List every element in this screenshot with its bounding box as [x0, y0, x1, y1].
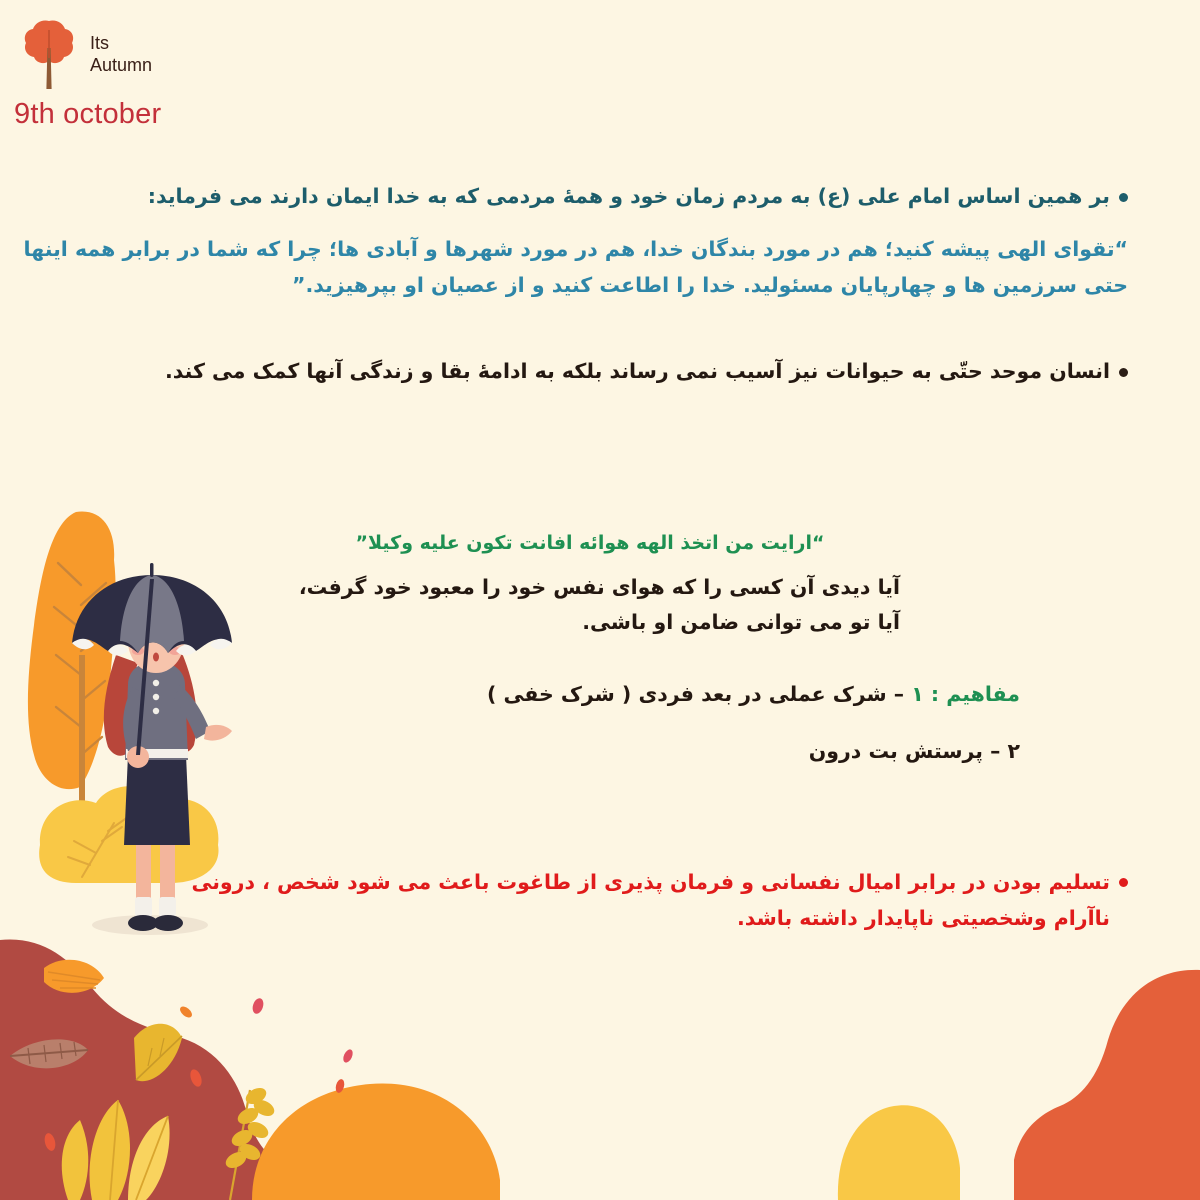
bullet-dot-icon — [1119, 193, 1128, 202]
concepts-label: مفاهیم : ۱ — [911, 682, 1020, 706]
bullet-dot-icon — [1119, 368, 1128, 377]
paragraph-3-text: تسلیم بودن در برابر امیال نفسانی و فرمان… — [138, 865, 1110, 937]
paragraph-2-text: انسان موحد حتّی به حیوانات نیز آسیب نمی … — [165, 355, 1110, 389]
concepts-line-2: ۲ – پرستش بت درون — [290, 735, 1020, 769]
tall-leaf — [134, 1024, 182, 1082]
brand-row: Its Autumn — [22, 18, 152, 90]
concepts-item-1: – شرک عملی در بعد فردی ( شرک خفی ) — [487, 682, 904, 706]
date-label: 9th october — [14, 98, 161, 131]
poster-page: Its Autumn 9th october بر همین اساس امام… — [0, 0, 1200, 1200]
verse-translation: آیا دیدی آن کسی را که هوای نفس خود را مع… — [280, 570, 900, 640]
brand-line-2: Autumn — [90, 54, 152, 77]
leaf-branch — [223, 1085, 277, 1200]
brand-text: Its Autumn — [90, 32, 152, 77]
feather-leaf-icon — [10, 1039, 88, 1068]
paragraph-3-row: تسلیم بودن در برابر امیال نفسانی و فرمان… — [138, 865, 1128, 937]
concepts-line-1: مفاهیم : ۱ – شرک عملی در بعد فردی ( شرک … — [230, 678, 1020, 712]
paragraph-1-row: بر همین اساس امام علی (ع) به مردم زمان خ… — [18, 180, 1128, 214]
paragraph-1-text: بر همین اساس امام علی (ع) به مردم زمان خ… — [148, 180, 1110, 214]
quote-block: “تقوای الهی پیشه کنید؛ هم در مورد بندگان… — [8, 232, 1128, 304]
autumn-tree-icon — [22, 18, 76, 90]
autumn-tree-graphic — [28, 512, 116, 820]
paragraph-2-row: انسان موحد حتّی به حیوانات نیز آسیب نمی … — [8, 355, 1128, 389]
leaf-cluster — [62, 1100, 170, 1200]
bullet-dot-icon — [1119, 878, 1128, 887]
brand-line-1: Its — [90, 32, 152, 55]
quran-verse: “ارایت من اتخذ الهه هوائه افانت تکون علی… — [280, 528, 900, 559]
header: Its Autumn 9th october — [0, 0, 400, 150]
